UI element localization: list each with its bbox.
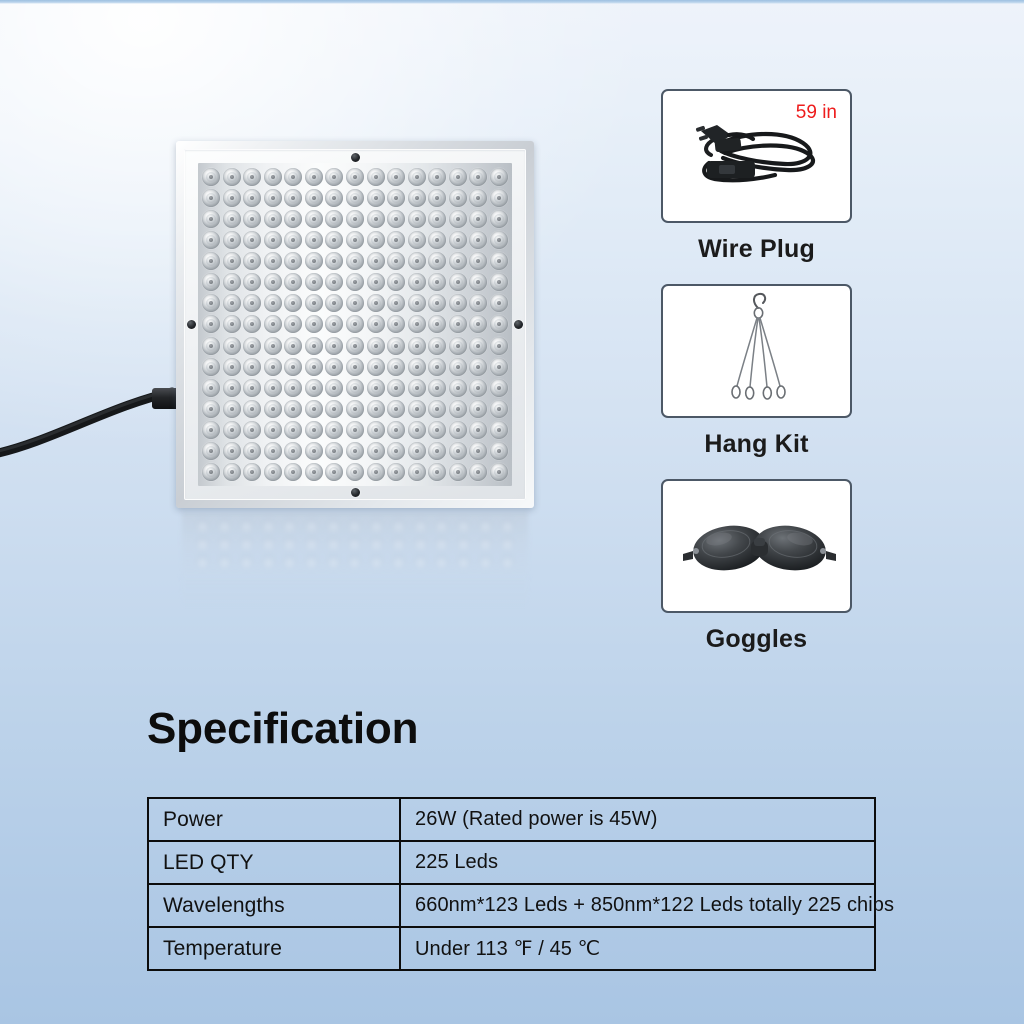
led-lens	[387, 168, 405, 186]
reflection-dot	[304, 518, 319, 533]
led-lens	[264, 189, 282, 207]
reflection-dot	[478, 518, 493, 533]
led-lens	[469, 168, 487, 186]
accessory-hang-kit-image	[661, 284, 852, 418]
reflection-dot	[369, 554, 384, 569]
reflection-dot	[347, 554, 362, 569]
led-lens	[490, 421, 508, 439]
led-lens	[428, 337, 446, 355]
led-lens	[223, 315, 241, 333]
led-lens	[449, 442, 467, 460]
reflection-dot	[195, 554, 210, 569]
led-lens	[346, 315, 364, 333]
reflection-dot	[413, 554, 428, 569]
led-lens	[202, 168, 220, 186]
led-lens	[408, 189, 426, 207]
led-lens	[428, 400, 446, 418]
led-lens	[223, 358, 241, 376]
led-lens	[264, 400, 282, 418]
led-lens	[305, 189, 323, 207]
led-lens	[284, 337, 302, 355]
led-lens	[284, 379, 302, 397]
led-lens	[305, 379, 323, 397]
led-lens	[367, 294, 385, 312]
led-lens	[305, 231, 323, 249]
table-row: Temperature Under 113 ℉ / 45 ℃	[148, 927, 875, 970]
led-lens	[408, 463, 426, 481]
led-lens	[490, 315, 508, 333]
led-lens	[408, 231, 426, 249]
led-lens	[264, 337, 282, 355]
reflection-dot	[195, 518, 210, 533]
led-lens	[469, 379, 487, 397]
spec-value: 225 Leds	[400, 841, 875, 884]
led-lens	[367, 337, 385, 355]
reflection-dot	[326, 536, 341, 551]
specification-table-body: Power 26W (Rated power is 45W) LED QTY 2…	[148, 798, 875, 970]
led-lens	[346, 337, 364, 355]
reflection-dot	[304, 536, 319, 551]
led-lens	[346, 358, 364, 376]
led-lens	[490, 337, 508, 355]
led-lens	[325, 379, 343, 397]
spec-value: 660nm*123 Leds + 850nm*122 Leds totally …	[400, 884, 875, 927]
led-lens	[428, 252, 446, 270]
led-lens	[428, 421, 446, 439]
led-lens	[387, 294, 405, 312]
led-lens	[325, 168, 343, 186]
led-lens	[449, 315, 467, 333]
led-lens	[223, 421, 241, 439]
reflection-dot	[369, 518, 384, 533]
led-lens	[387, 379, 405, 397]
led-lens	[223, 463, 241, 481]
led-lens	[428, 273, 446, 291]
led-lens	[305, 442, 323, 460]
led-lens	[346, 210, 364, 228]
reflection-dot	[347, 536, 362, 551]
led-lens	[408, 315, 426, 333]
accessory-hang-kit-label: Hang Kit	[661, 430, 852, 459]
led-lens	[449, 210, 467, 228]
led-lens	[284, 400, 302, 418]
led-lens	[387, 358, 405, 376]
led-lens	[264, 379, 282, 397]
led-lens	[264, 273, 282, 291]
led-lens	[490, 379, 508, 397]
led-lens	[284, 358, 302, 376]
accessory-wire-plug-label: Wire Plug	[661, 235, 852, 264]
led-lens	[264, 442, 282, 460]
reflection-dot	[500, 554, 515, 569]
led-lens	[490, 294, 508, 312]
led-lens	[449, 231, 467, 249]
led-lens	[325, 463, 343, 481]
table-row: Wavelengths 660nm*123 Leds + 850nm*122 L…	[148, 884, 875, 927]
led-lens	[449, 463, 467, 481]
led-lens	[243, 400, 261, 418]
led-lens	[367, 421, 385, 439]
led-lens	[408, 400, 426, 418]
led-lens	[202, 210, 220, 228]
led-lens	[367, 315, 385, 333]
reflection-dot	[391, 518, 406, 533]
led-lens	[264, 315, 282, 333]
led-lens	[202, 358, 220, 376]
led-lens	[428, 168, 446, 186]
spec-key: Wavelengths	[148, 884, 400, 927]
led-lens	[387, 189, 405, 207]
led-lens	[243, 294, 261, 312]
led-lens	[346, 379, 364, 397]
led-lens	[408, 168, 426, 186]
led-lens	[243, 337, 261, 355]
led-lens	[243, 231, 261, 249]
panel-frame	[176, 141, 534, 508]
reflection-dot	[239, 554, 254, 569]
led-lens	[367, 400, 385, 418]
led-lens	[223, 252, 241, 270]
reflection-dot	[500, 518, 515, 533]
led-lens	[387, 231, 405, 249]
reflection-dot	[434, 518, 449, 533]
led-lens	[284, 463, 302, 481]
led-lens	[490, 252, 508, 270]
led-lens	[305, 294, 323, 312]
wire-length-badge: 59 in	[796, 102, 837, 124]
mounting-screw-left	[187, 320, 196, 329]
accessory-hang-kit[interactable]: Hang Kit	[661, 284, 852, 459]
inline-switch	[707, 161, 755, 178]
led-lens	[469, 210, 487, 228]
led-lens	[284, 168, 302, 186]
led-lens	[223, 210, 241, 228]
led-lens	[223, 442, 241, 460]
led-lens	[305, 358, 323, 376]
led-lens	[202, 231, 220, 249]
reflection-dot	[391, 536, 406, 551]
led-lens	[346, 273, 364, 291]
reflection-dot	[239, 536, 254, 551]
led-lens	[449, 358, 467, 376]
led-lens	[408, 210, 426, 228]
led-lens	[469, 442, 487, 460]
reflection-dot	[456, 554, 471, 569]
table-row: LED QTY 225 Leds	[148, 841, 875, 884]
led-lens	[325, 421, 343, 439]
reflection-dot	[326, 554, 341, 569]
led-lens	[367, 231, 385, 249]
led-lens	[449, 337, 467, 355]
reflection-dot	[434, 536, 449, 551]
led-grid	[201, 166, 509, 483]
led-lens	[284, 421, 302, 439]
led-lens	[202, 273, 220, 291]
led-lens	[428, 463, 446, 481]
led-lens	[305, 337, 323, 355]
specification-title: Specification	[147, 704, 418, 754]
led-lens	[346, 168, 364, 186]
led-lens	[469, 252, 487, 270]
led-lens	[367, 358, 385, 376]
reflection-dot	[326, 518, 341, 533]
led-lens	[305, 400, 323, 418]
led-lens	[428, 379, 446, 397]
led-lens	[305, 463, 323, 481]
reflection-dot	[304, 554, 319, 569]
led-lens	[428, 210, 446, 228]
led-lens	[428, 189, 446, 207]
led-lens	[223, 168, 241, 186]
led-lens	[202, 463, 220, 481]
led-lens	[264, 231, 282, 249]
led-lens	[325, 273, 343, 291]
led-lens	[243, 358, 261, 376]
led-lens	[346, 189, 364, 207]
led-lens	[469, 189, 487, 207]
led-lens	[408, 379, 426, 397]
led-lens	[223, 231, 241, 249]
led-lens	[202, 379, 220, 397]
led-lens	[469, 421, 487, 439]
mounting-screw-bottom	[351, 488, 360, 497]
led-lens	[449, 273, 467, 291]
accessory-goggles-label: Goggles	[661, 625, 852, 654]
led-lens	[264, 463, 282, 481]
led-lens	[367, 168, 385, 186]
led-lens	[202, 442, 220, 460]
led-lens	[202, 337, 220, 355]
led-lens	[367, 210, 385, 228]
led-lens	[325, 231, 343, 249]
led-lens	[469, 463, 487, 481]
spec-value: Under 113 ℉ / 45 ℃	[400, 927, 875, 970]
led-lens	[428, 231, 446, 249]
led-lens	[202, 400, 220, 418]
reflection-dot	[478, 536, 493, 551]
led-lens	[223, 273, 241, 291]
led-lens	[264, 421, 282, 439]
reflection-dot	[261, 536, 276, 551]
background-top-accent-line	[0, 0, 1024, 4]
led-lens	[346, 400, 364, 418]
reflection-dot	[217, 536, 232, 551]
led-lens	[428, 358, 446, 376]
led-lens	[469, 231, 487, 249]
led-lens	[305, 252, 323, 270]
panel-reflection-dots	[192, 516, 518, 570]
led-lens	[284, 231, 302, 249]
reflection-dot	[413, 536, 428, 551]
led-lens	[387, 400, 405, 418]
spec-key: Power	[148, 798, 400, 841]
led-lens	[387, 315, 405, 333]
accessory-goggles-image	[661, 479, 852, 613]
reflection-dot	[369, 536, 384, 551]
led-lens	[346, 442, 364, 460]
led-lens	[469, 315, 487, 333]
led-lens	[223, 379, 241, 397]
led-lens	[243, 315, 261, 333]
led-lens	[408, 252, 426, 270]
led-lens	[428, 294, 446, 312]
led-panel[interactable]	[176, 141, 534, 508]
led-lens	[469, 294, 487, 312]
led-lens	[223, 189, 241, 207]
spec-key: Temperature	[148, 927, 400, 970]
reflection-dot	[239, 518, 254, 533]
led-lens	[490, 189, 508, 207]
led-lens	[469, 400, 487, 418]
led-lens	[223, 337, 241, 355]
accessory-goggles[interactable]: Goggles	[661, 479, 852, 654]
led-lens	[346, 463, 364, 481]
led-lens	[428, 315, 446, 333]
safety-goggles-icon	[663, 481, 852, 613]
led-lens	[284, 210, 302, 228]
led-lens	[367, 463, 385, 481]
led-lens	[284, 252, 302, 270]
led-lens	[243, 210, 261, 228]
led-lens	[305, 421, 323, 439]
led-lens	[243, 273, 261, 291]
led-lens	[243, 421, 261, 439]
led-lens	[387, 273, 405, 291]
led-lens	[202, 252, 220, 270]
led-lens	[490, 273, 508, 291]
led-lens	[325, 189, 343, 207]
led-lens	[346, 294, 364, 312]
led-lens	[469, 337, 487, 355]
led-lens	[408, 273, 426, 291]
led-lens	[202, 421, 220, 439]
led-lens	[305, 168, 323, 186]
led-lens	[449, 421, 467, 439]
led-lens	[367, 273, 385, 291]
led-lens	[346, 231, 364, 249]
reflection-dot	[347, 518, 362, 533]
reflection-dot	[282, 536, 297, 551]
led-lens	[449, 400, 467, 418]
led-lens	[305, 210, 323, 228]
led-lens	[449, 189, 467, 207]
led-lens	[490, 400, 508, 418]
reflection-dot	[261, 554, 276, 569]
led-lens	[490, 231, 508, 249]
led-lens	[325, 294, 343, 312]
mounting-screw-right	[514, 320, 523, 329]
led-lens	[387, 337, 405, 355]
led-lens	[284, 189, 302, 207]
led-lens	[325, 337, 343, 355]
spec-key: LED QTY	[148, 841, 400, 884]
reflection-dot	[282, 518, 297, 533]
led-lens	[387, 252, 405, 270]
led-lens	[202, 315, 220, 333]
led-lens	[223, 294, 241, 312]
led-field	[198, 163, 512, 486]
led-lens	[408, 294, 426, 312]
led-lens	[264, 358, 282, 376]
led-lens	[243, 189, 261, 207]
led-lens	[469, 273, 487, 291]
led-lens	[490, 358, 508, 376]
led-lens	[202, 189, 220, 207]
reflection-dot	[261, 518, 276, 533]
led-lens	[346, 252, 364, 270]
led-lens	[325, 315, 343, 333]
reflection-dot	[195, 536, 210, 551]
led-lens	[490, 442, 508, 460]
led-lens	[408, 337, 426, 355]
led-lens	[408, 421, 426, 439]
reflection-dot	[456, 536, 471, 551]
led-lens	[408, 442, 426, 460]
led-lens	[325, 442, 343, 460]
reflection-dot	[456, 518, 471, 533]
accessory-wire-plug-image: 59 in	[661, 89, 852, 223]
led-lens	[367, 379, 385, 397]
led-lens	[264, 210, 282, 228]
led-lens	[325, 400, 343, 418]
led-lens	[223, 400, 241, 418]
accessory-wire-plug[interactable]: 59 in	[661, 89, 852, 264]
panel-inner-bezel	[184, 149, 526, 500]
led-lens	[449, 252, 467, 270]
led-lens	[325, 358, 343, 376]
hanging-hook-icon	[663, 286, 852, 418]
led-lens	[264, 168, 282, 186]
led-lens	[243, 252, 261, 270]
led-lens	[408, 358, 426, 376]
led-lens	[449, 294, 467, 312]
reflection-dot	[217, 554, 232, 569]
led-lens	[387, 442, 405, 460]
reflection-dot	[413, 518, 428, 533]
reflection-dot	[500, 536, 515, 551]
reflection-dot	[391, 554, 406, 569]
led-lens	[284, 442, 302, 460]
led-lens	[367, 189, 385, 207]
mounting-screw-top	[351, 153, 360, 162]
table-row: Power 26W (Rated power is 45W)	[148, 798, 875, 841]
led-lens	[325, 252, 343, 270]
led-lens	[490, 168, 508, 186]
led-lens	[346, 421, 364, 439]
led-lens	[387, 210, 405, 228]
reflection-dot	[478, 554, 493, 569]
reflection-dot	[434, 554, 449, 569]
led-lens	[243, 379, 261, 397]
panel-reflection	[182, 512, 528, 608]
led-lens	[243, 463, 261, 481]
led-lens	[325, 210, 343, 228]
led-lens	[243, 168, 261, 186]
led-lens	[284, 273, 302, 291]
led-lens	[367, 442, 385, 460]
led-lens	[490, 210, 508, 228]
spec-value: 26W (Rated power is 45W)	[400, 798, 875, 841]
reflection-dot	[217, 518, 232, 533]
led-lens	[284, 294, 302, 312]
led-lens	[305, 273, 323, 291]
led-lens	[469, 358, 487, 376]
reflection-dot	[282, 554, 297, 569]
led-lens	[449, 168, 467, 186]
led-lens	[264, 252, 282, 270]
led-lens	[387, 421, 405, 439]
led-lens	[243, 442, 261, 460]
